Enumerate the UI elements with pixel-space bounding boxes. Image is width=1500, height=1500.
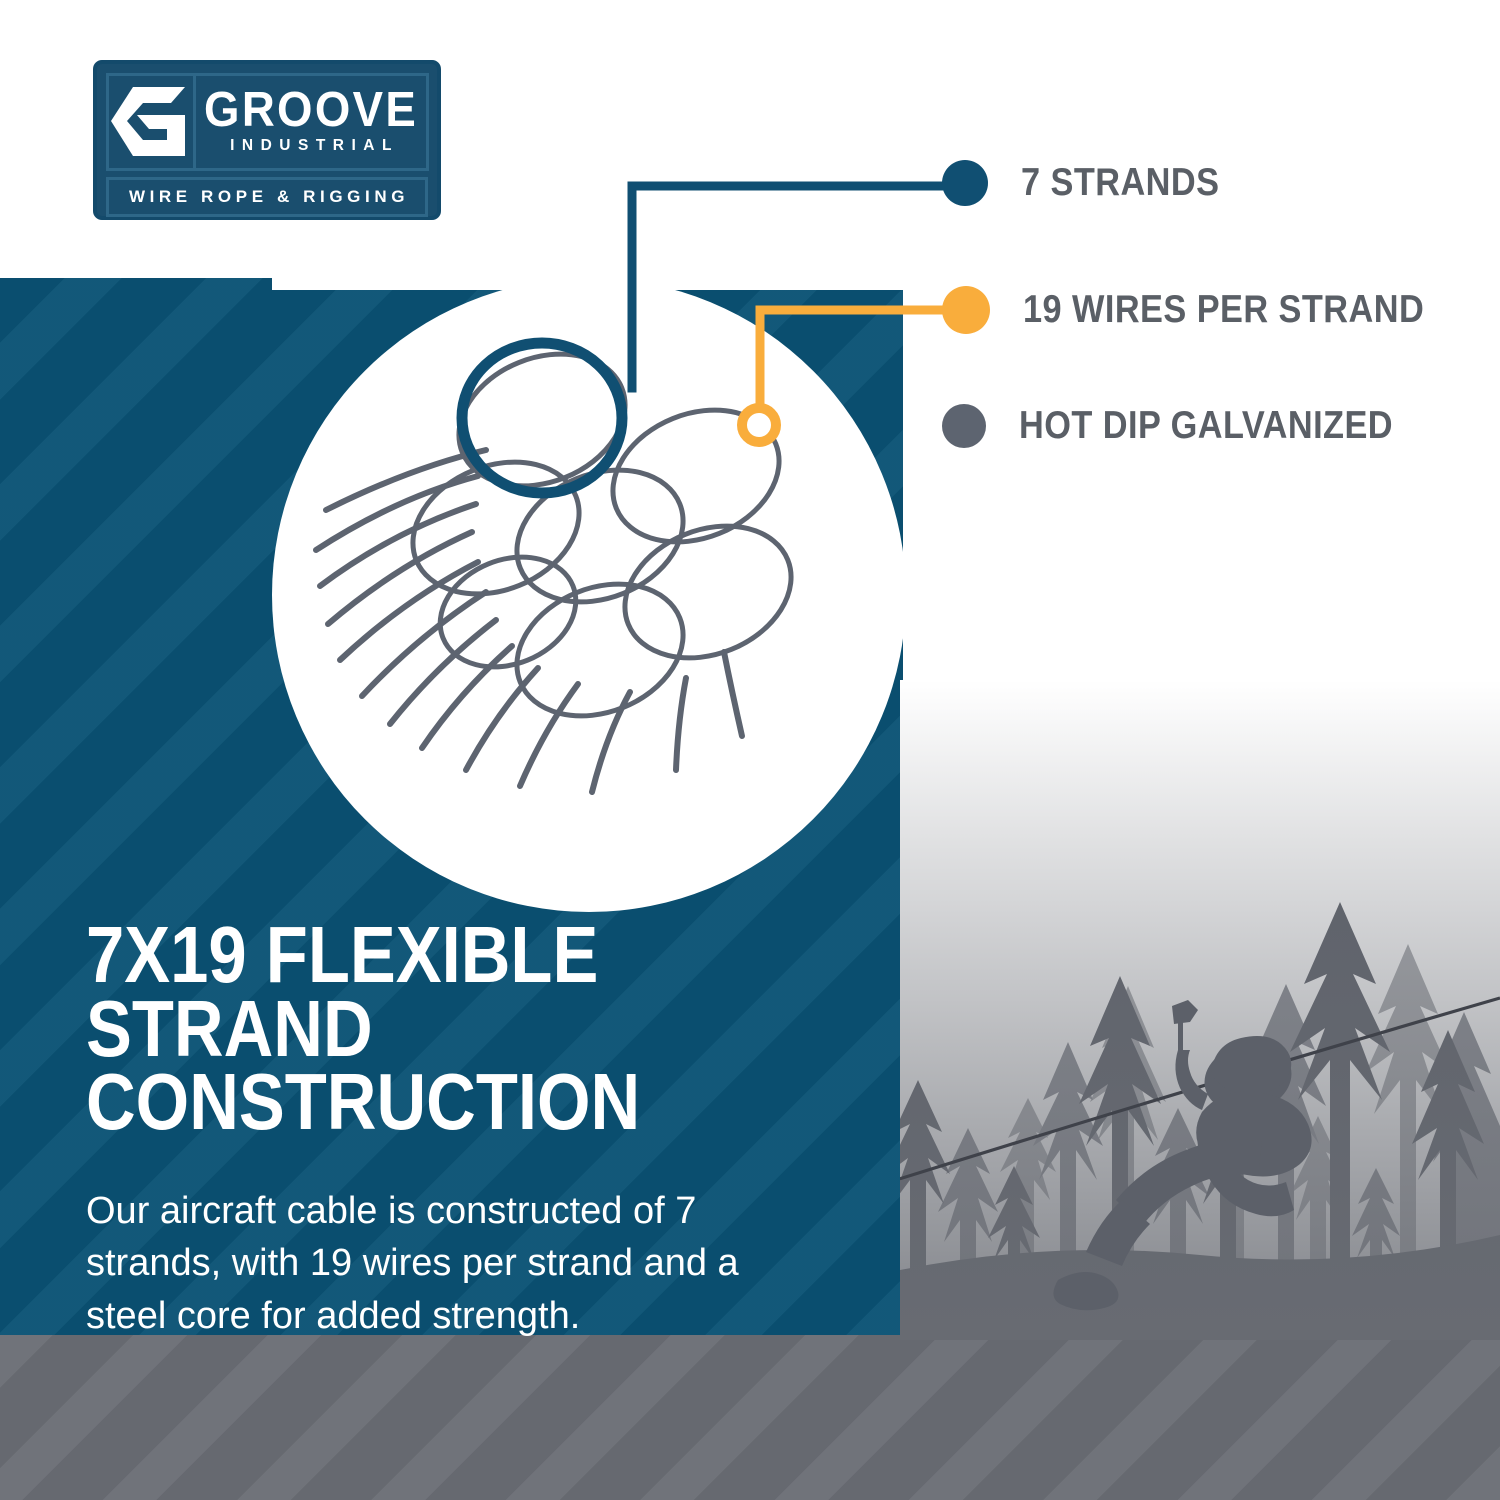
strand-outlines [393, 330, 811, 739]
callout-label: HOT DIP GALVANIZED [1019, 404, 1393, 448]
callout-label: 19 WIRES PER STRAND [1023, 288, 1424, 332]
logo-subname: INDUSTRIAL [223, 137, 399, 155]
body-copy: Our aircraft cable is constructed of 7 s… [86, 1185, 786, 1342]
magnifier-ring [462, 343, 622, 493]
rope-strand-body [300, 300, 880, 820]
zipline-lanyard [1178, 1018, 1183, 1052]
title-line-2: STRAND CONSTRUCTION [86, 992, 765, 1139]
logo-tagline: WIRE ROPE & RIGGING [125, 187, 409, 207]
callout-19-wires[interactable]: 19 WIRES PER STRAND [942, 286, 1479, 334]
bottom-band [0, 1335, 1500, 1500]
brand-logo[interactable]: GROOVE INDUSTRIAL WIRE ROPE & RIGGING [93, 60, 441, 220]
zipline-photo [900, 680, 1500, 1340]
callout-dot-orange [942, 286, 990, 334]
wire-rope-illustration [300, 300, 880, 820]
callout-label: 7 STRANDS [1021, 161, 1219, 205]
heading-block: 7X19 FLEXIBLE STRAND CONSTRUCTION Our ai… [86, 918, 876, 1342]
callout-hot-dip-galvanized[interactable]: HOT DIP GALVANIZED [942, 404, 1444, 448]
logo-tagline-box: WIRE ROPE & RIGGING [106, 177, 428, 217]
logo-name: GROOVE [204, 87, 418, 133]
logo-wordmark: GROOVE INDUSTRIAL [196, 73, 429, 171]
page-title: 7X19 FLEXIBLE STRAND CONSTRUCTION [86, 918, 765, 1139]
groove-g-glyph [109, 85, 193, 159]
infographic-canvas: GROOVE INDUSTRIAL WIRE ROPE & RIGGING 7 … [0, 0, 1500, 1500]
wire-ring-marker [729, 395, 789, 455]
callout-dot-blue [942, 160, 988, 206]
callout-dot-gray [942, 404, 986, 448]
groove-g-icon [106, 73, 196, 171]
callout-7-strands[interactable]: 7 STRANDS [942, 160, 1247, 206]
